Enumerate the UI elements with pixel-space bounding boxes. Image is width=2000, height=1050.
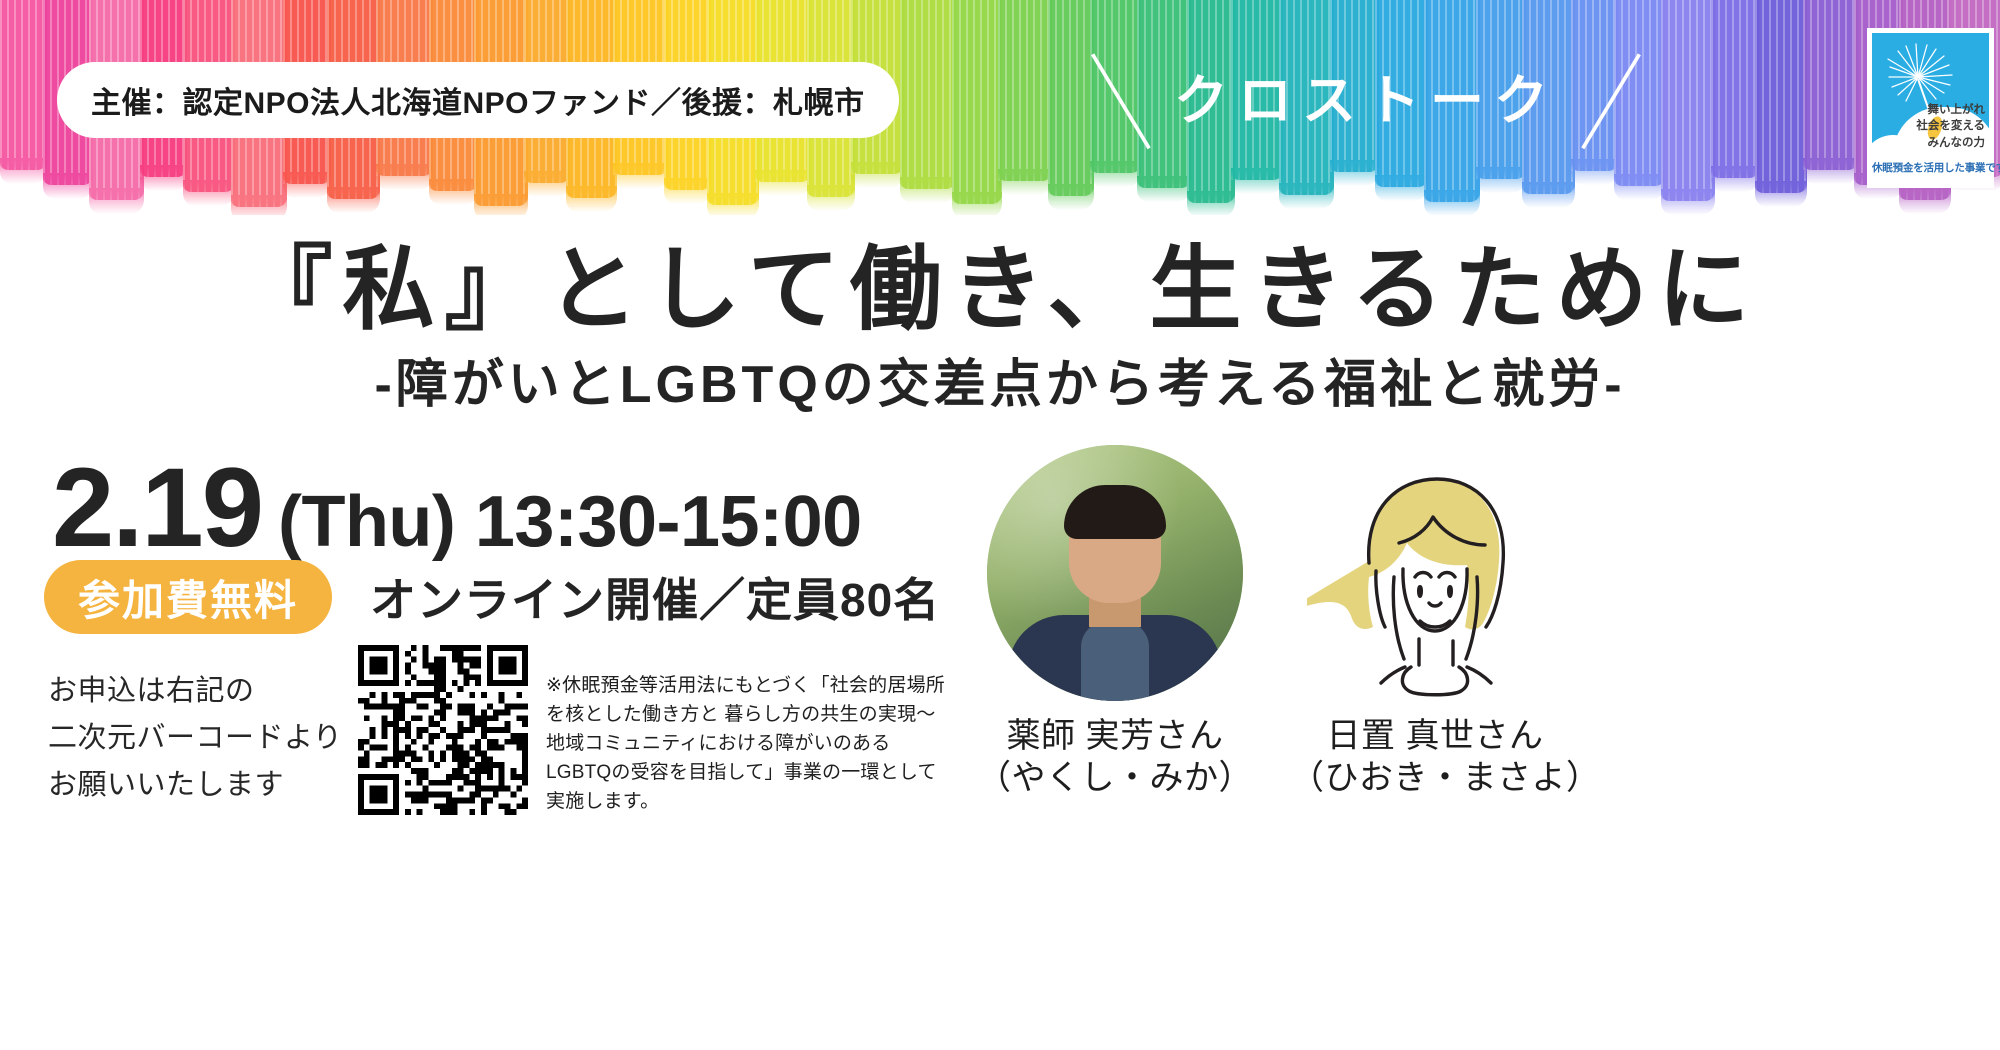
paint-stripe — [1755, 0, 1807, 193]
paint-texture — [900, 0, 957, 189]
paint-stripe — [998, 0, 1052, 181]
logo-slogan-line1: 舞い上がれ — [1916, 102, 1985, 118]
event-daytime: (Thu) 13:30-15:00 — [278, 486, 862, 558]
event-date: 2.19 — [52, 452, 262, 564]
dormant-deposit-logo: 舞い上がれ 社会を変える みんなの力 休眠預金を活用した事業です — [1867, 28, 1994, 188]
slash-right-icon: ／ — [1560, 53, 1664, 157]
paint-stripe — [1661, 0, 1716, 201]
paint-stripe — [952, 0, 1002, 204]
qr-code-canvas[interactable] — [358, 645, 528, 815]
speaker-illustration-2 — [1307, 445, 1563, 701]
speaker-name-text-1: 薬師 実芳さん — [970, 715, 1260, 757]
woman-portrait-icon — [1307, 445, 1563, 701]
photo-shirt — [1081, 621, 1149, 701]
poster-root: 主催：認定NPO法人北海道NPOファンド／後援：札幌市 ＼ クロストーク ／ — [0, 0, 2000, 1050]
paint-texture — [998, 0, 1052, 181]
logo-slogan-line2: 社会を変える — [1916, 118, 1985, 134]
event-info-row: 参加費無料 オンライン開催／定員80名 — [44, 560, 940, 634]
crosstalk-banner: ＼ クロストーク ／ — [1078, 58, 1654, 144]
speaker-name-2: 日置 真世さん （ひおき・まさよ） — [1290, 715, 1580, 799]
host-organizer-label: 主催：認定NPO法人北海道NPOファンド／後援：札幌市 — [91, 78, 865, 122]
speaker-name-text-2: 日置 真世さん — [1290, 715, 1580, 757]
paint-texture — [1803, 0, 1859, 170]
paint-texture — [1661, 0, 1716, 201]
speaker-card-1: 薬師 実芳さん （やくし・みか） — [970, 445, 1260, 799]
page-subtitle: -障がいとLGBTQの交差点から考える福祉と就労- — [0, 358, 2000, 413]
speaker-kana-2: （ひおき・まさよ） — [1290, 757, 1580, 799]
speaker-card-2: 日置 真世さん （ひおき・まさよ） — [1290, 445, 1580, 799]
paint-texture — [0, 0, 47, 170]
apply-line-3: お願いいたします — [48, 762, 342, 809]
apply-instructions: お申込は右記の 二次元バーコードより お願いいたします — [48, 668, 342, 809]
page-title: 『私』として働き、生きるために — [0, 242, 2000, 339]
slash-left-icon: ＼ — [1068, 53, 1172, 157]
logo-slogan-line3: みんなの力 — [1916, 135, 1985, 151]
logo-footer-label: 休眠預金を活用した事業です — [1872, 160, 1989, 175]
free-admission-badge: 参加費無料 — [44, 560, 332, 634]
event-date-row: 2.19 (Thu) 13:30-15:00 — [52, 452, 862, 564]
host-organizer-pill: 主催：認定NPO法人北海道NPOファンド／後援：札幌市 — [57, 62, 899, 138]
apply-line-2: 二次元バーコードより — [48, 715, 342, 762]
qr-code[interactable] — [358, 645, 528, 815]
paint-texture — [952, 0, 1002, 204]
paint-stripe — [1803, 0, 1859, 170]
speaker-kana-1: （やくし・みか） — [970, 757, 1260, 799]
speaker-name-1: 薬師 実芳さん （やくし・みか） — [970, 715, 1260, 799]
logo-sky-panel: 舞い上がれ 社会を変える みんなの力 — [1872, 33, 1989, 159]
event-format-label: オンライン開催／定員80名 — [370, 564, 940, 630]
paint-stripe — [1711, 0, 1759, 178]
paint-stripe — [900, 0, 957, 189]
paint-stripe — [0, 0, 47, 170]
crosstalk-label: クロストーク — [1174, 74, 1558, 128]
free-admission-label: 参加費無料 — [78, 567, 298, 628]
footnote-text: ※休眠預金等活用法にもとづく「社会的居場所を核とした働き方と 暮らし方の共生の実… — [546, 672, 946, 816]
speaker-photo-1 — [987, 445, 1243, 701]
apply-line-1: お申込は右記の — [48, 668, 342, 715]
logo-slogan: 舞い上がれ 社会を変える みんなの力 — [1916, 102, 1985, 151]
paint-texture — [1711, 0, 1759, 178]
paint-texture — [1755, 0, 1807, 193]
